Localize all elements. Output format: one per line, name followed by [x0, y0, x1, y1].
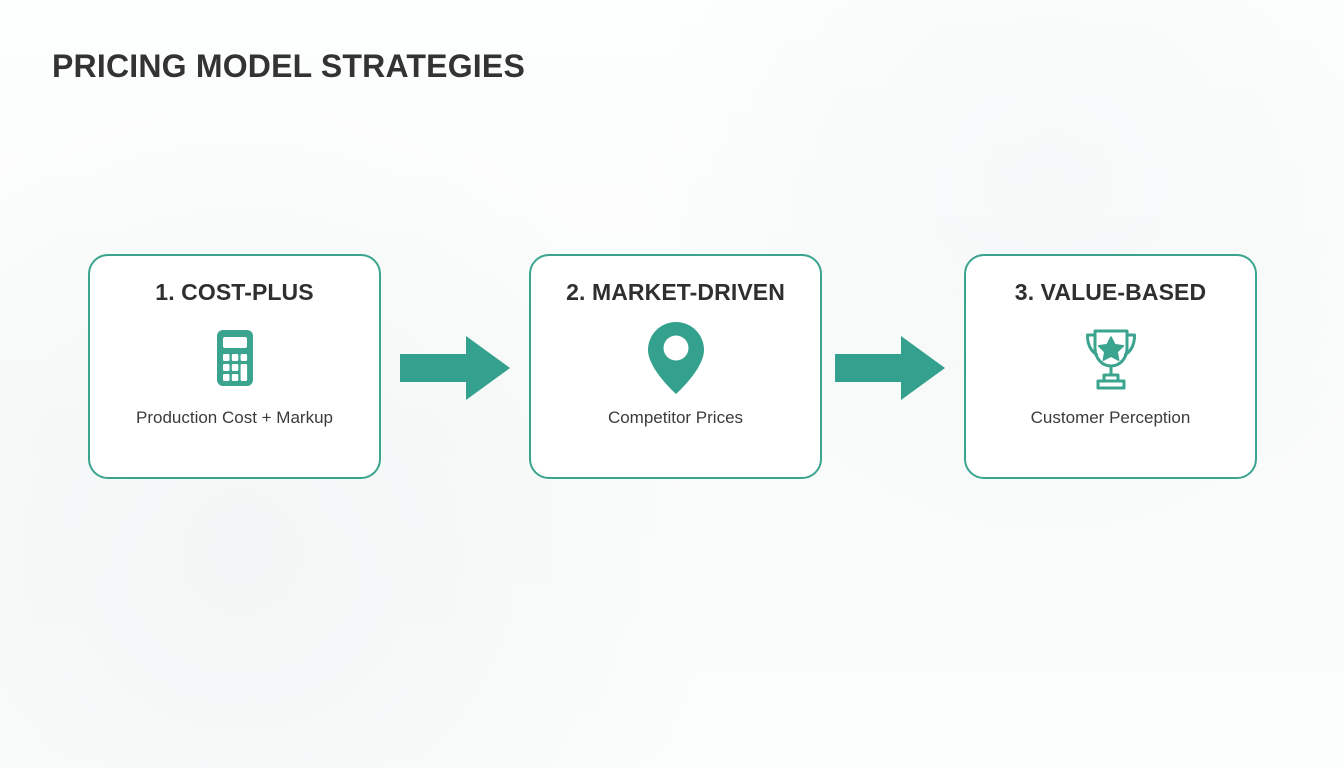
- arrow-right-icon: [835, 336, 945, 400]
- strategy-card-caption: Competitor Prices: [608, 408, 743, 428]
- strategy-card-title: 2. MARKET-DRIVEN: [566, 279, 785, 306]
- map-pin-icon: [640, 322, 712, 394]
- arrow-right-icon: [400, 336, 510, 400]
- strategy-card-value-based[interactable]: 3. VALUE-BASED Cust: [964, 254, 1257, 479]
- strategy-card-caption: Production Cost + Markup: [136, 408, 333, 428]
- strategy-card-market-driven[interactable]: 2. MARKET-DRIVEN Competitor Prices: [529, 254, 822, 479]
- strategy-card-title: 1. COST-PLUS: [155, 279, 313, 306]
- strategy-card-cost-plus[interactable]: 1. COST-PLUS Production Cost + Markup: [88, 254, 381, 479]
- strategy-card-title: 3. VALUE-BASED: [1015, 279, 1206, 306]
- slide-canvas: PRICING MODEL STRATEGIES 1. COST-PLUS: [0, 0, 1344, 768]
- calculator-icon: [199, 322, 271, 394]
- page-title: PRICING MODEL STRATEGIES: [52, 48, 525, 85]
- pricing-strategy-flow: 1. COST-PLUS Production Cost + Markup: [88, 254, 1258, 484]
- strategy-card-caption: Customer Perception: [1031, 408, 1191, 428]
- trophy-icon: [1075, 322, 1147, 394]
